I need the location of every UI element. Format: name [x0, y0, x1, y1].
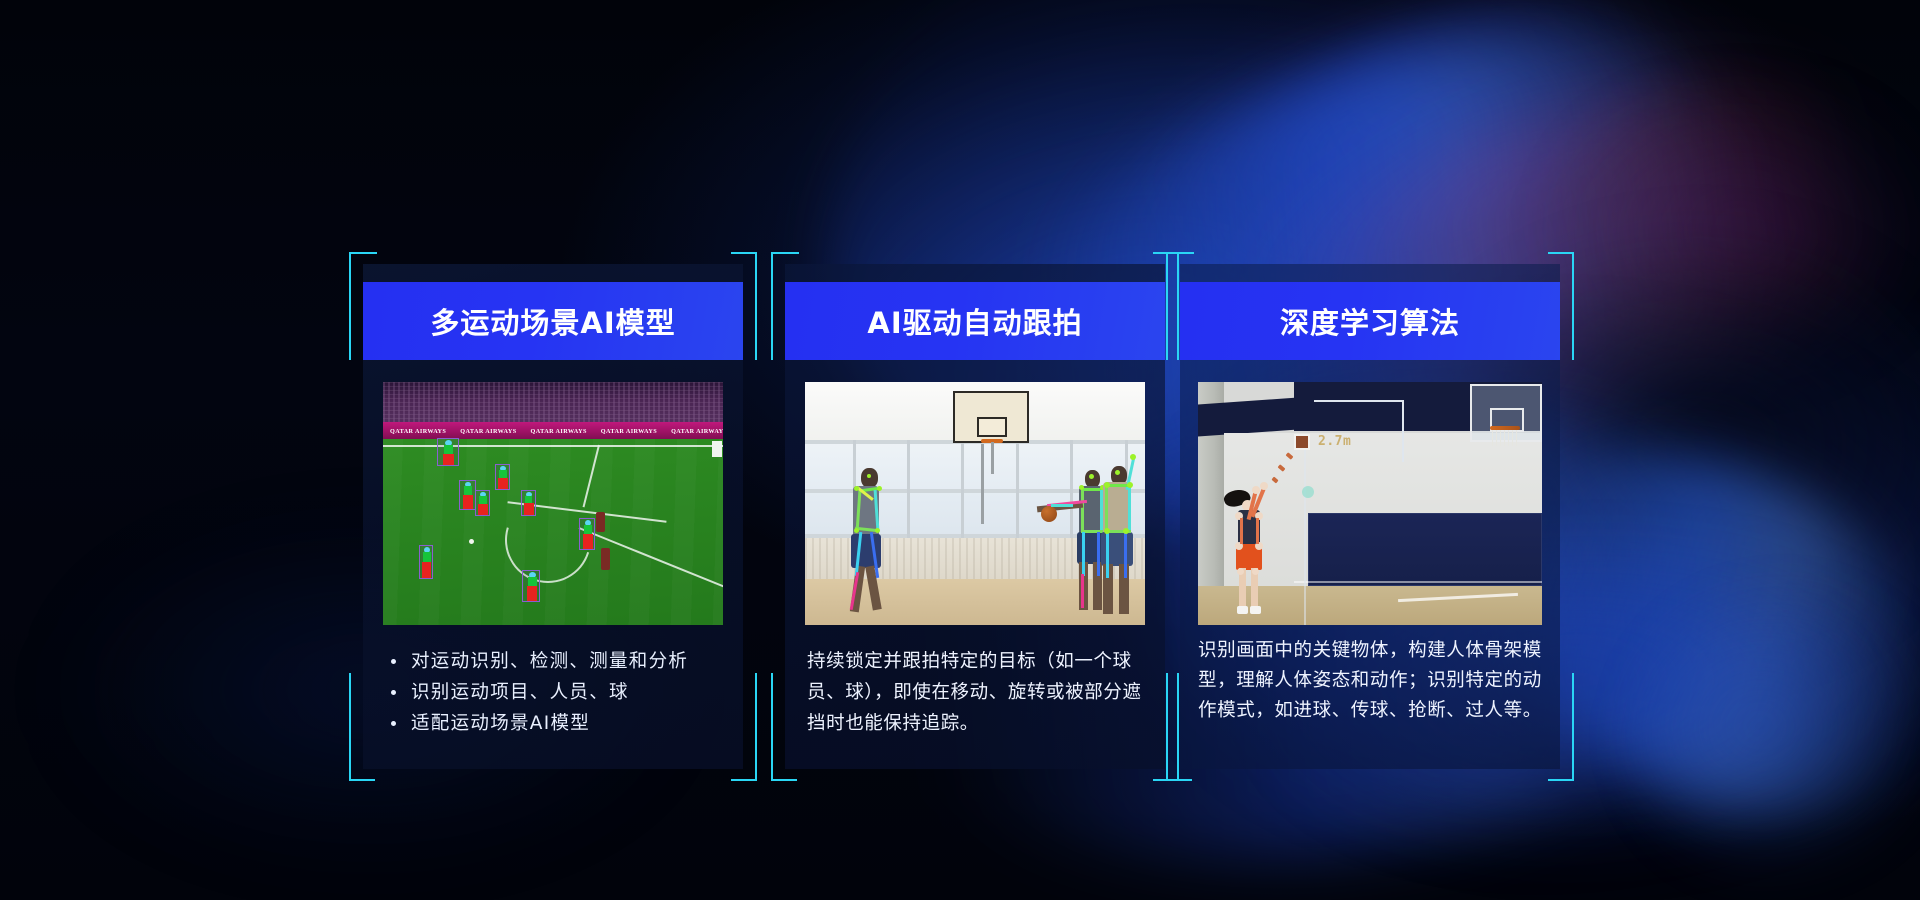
player-skeleton — [1222, 482, 1292, 622]
list-item: 对运动识别、检测、测量和分析 — [385, 646, 725, 677]
shot-distance-image: 2.7m — [1198, 382, 1542, 625]
detection-box — [579, 518, 595, 550]
feature-bullet-list: 对运动识别、检测、测量和分析 识别运动项目、人员、球 适配运动场景AI模型 — [385, 646, 725, 739]
card-title-text: AI驱动自动跟拍 — [867, 300, 1082, 342]
soccer-pitch — [383, 439, 723, 625]
feature-card-ai-auto-tracking[interactable]: AI驱动自动跟拍 — [785, 264, 1165, 769]
undetected-player — [601, 548, 610, 570]
advertising-board-text: QATAR AIRWAYS — [524, 428, 594, 435]
card-title-bar: 深度学习算法 — [1180, 282, 1560, 360]
trajectory-line — [1314, 400, 1404, 402]
card-title-bar: 多运动场景AI模型 — [363, 282, 743, 360]
advertising-board-text: QATAR AIRWAYS — [383, 428, 453, 435]
card-body-text: 对运动识别、检测、测量和分析 识别运动项目、人员、球 适配运动场景AI模型 — [385, 646, 725, 739]
list-item: 识别运动项目、人员、球 — [385, 677, 725, 708]
card-body-text: 持续锁定并跟拍特定的目标（如一个球员、球），即使在移动、旋转或被部分遮挡时也能保… — [807, 646, 1147, 739]
detection-box — [459, 480, 476, 510]
pose-skeleton — [1091, 458, 1145, 618]
card-body-text: 识别画面中的关键物体，构建人体骨架模型，理解人体姿态和动作；识别特定的动作模式，… — [1198, 636, 1546, 726]
feature-card-deep-learning-algorithm[interactable]: 深度学习算法 — [1180, 264, 1560, 769]
hoop-net — [1492, 430, 1518, 446]
card-title-text: 深度学习算法 — [1280, 300, 1460, 342]
ball-tracking-box — [1294, 434, 1310, 450]
basketball-pose-image — [805, 382, 1145, 625]
undetected-player — [596, 512, 605, 532]
paragraph: 识别画面中的关键物体，构建人体骨架模型，理解人体姿态和动作；识别特定的动作模式，… — [1198, 636, 1546, 726]
advertising-board: QATAR AIRWAYSQATAR AIRWAYSQATAR AIRWAYSQ… — [383, 422, 723, 440]
detection-box — [475, 490, 490, 516]
card-title-bar: AI驱动自动跟拍 — [785, 282, 1165, 360]
backboard — [953, 391, 1029, 443]
soccer-detection-image: QATAR AIRWAYSQATAR AIRWAYSQATAR AIRWAYSQ… — [383, 382, 723, 625]
paragraph: 持续锁定并跟拍特定的目标（如一个球员、球），即使在移动、旋转或被部分遮挡时也能保… — [807, 646, 1147, 739]
tracking-marker — [1302, 486, 1314, 498]
trajectory-line — [1402, 400, 1404, 462]
detection-box — [522, 570, 540, 602]
stadium-crowd — [383, 382, 723, 423]
detection-box — [521, 490, 536, 516]
card-title-text: 多运动场景AI模型 — [430, 300, 675, 342]
detection-box — [495, 464, 510, 490]
advertising-board-text: QATAR AIRWAYS — [594, 428, 664, 435]
advertising-board-text: QATAR AIRWAYS — [664, 428, 723, 435]
detection-box — [437, 438, 459, 466]
feature-card-list: 多运动场景AI模型 QATAR AIRWAYSQATAR AIRWAYSQATA… — [0, 0, 1920, 900]
basketball — [1041, 506, 1057, 522]
advertising-board-text: QATAR AIRWAYS — [453, 428, 523, 435]
trajectory-line — [1304, 448, 1306, 625]
distance-label: 2.7m — [1318, 434, 1351, 449]
list-item: 适配运动场景AI模型 — [385, 708, 725, 739]
detection-box — [419, 545, 433, 579]
feature-card-multi-sport-ai-model[interactable]: 多运动场景AI模型 QATAR AIRWAYSQATAR AIRWAYSQATA… — [363, 264, 743, 769]
pose-skeleton — [841, 468, 895, 618]
